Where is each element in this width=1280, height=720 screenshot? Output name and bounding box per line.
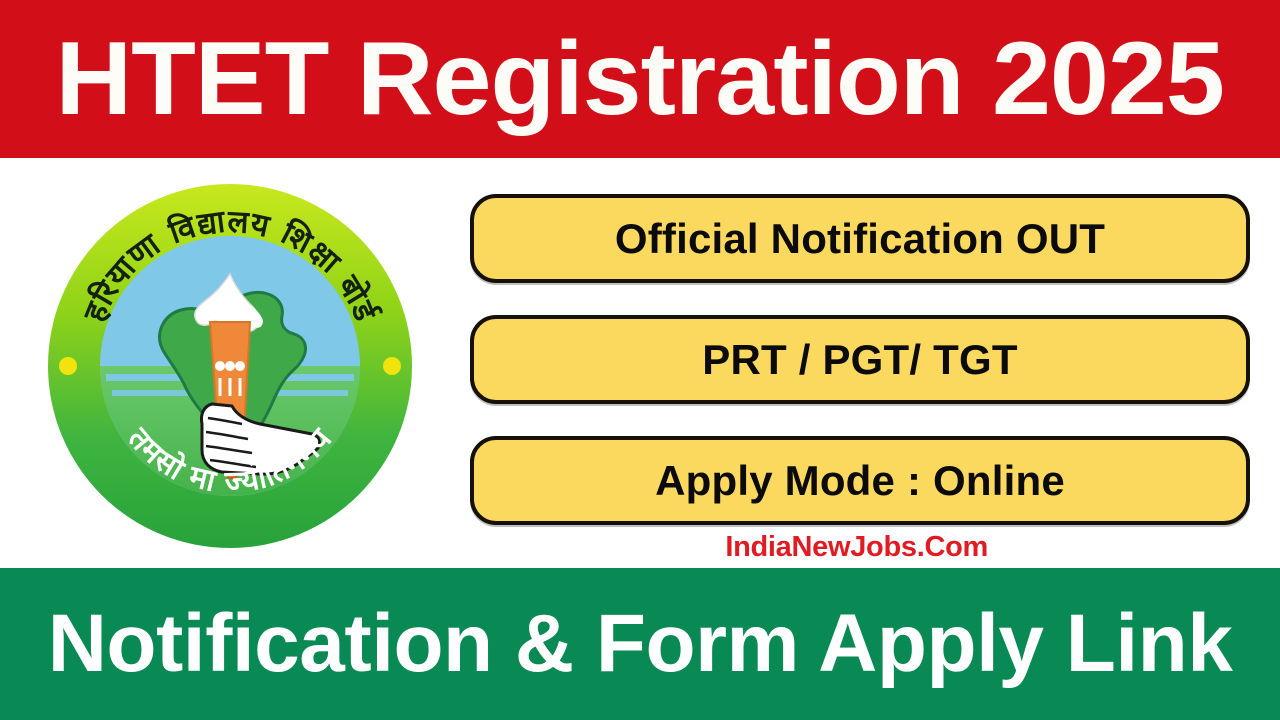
footer-band: Notification & Form Apply Link — [0, 568, 1280, 720]
button-official-notification-label: Official Notification OUT — [615, 218, 1105, 260]
poster-root: HTET Registration 2025 — [0, 0, 1280, 720]
button-post-names-label: PRT / PGT/ TGT — [702, 339, 1017, 381]
site-watermark-text: IndiaNewJobs.Com — [725, 531, 988, 563]
highlight-button-stack: Official Notification OUT PRT / PGT/ TGT… — [470, 194, 1250, 525]
site-watermark: IndiaNewJobs.Com — [0, 533, 1250, 562]
bseh-logo: हरियाणा विद्यालय शिक्षा बोर्ड तमसो मा ज्… — [46, 182, 414, 550]
button-post-names[interactable]: PRT / PGT/ TGT — [470, 315, 1250, 404]
page-title: HTET Registration 2025 — [56, 27, 1224, 131]
footer-title: Notification & Form Apply Link — [48, 603, 1233, 685]
button-apply-mode[interactable]: Apply Mode : Online — [470, 436, 1250, 525]
button-apply-mode-label: Apply Mode : Online — [655, 460, 1065, 502]
ring-dot-left — [59, 357, 77, 375]
bseh-logo-icon: हरियाणा विद्यालय शिक्षा बोर्ड तमसो मा ज्… — [46, 182, 414, 550]
ring-dot-right — [383, 357, 401, 375]
button-official-notification[interactable]: Official Notification OUT — [470, 194, 1250, 283]
header-band: HTET Registration 2025 — [0, 0, 1280, 158]
